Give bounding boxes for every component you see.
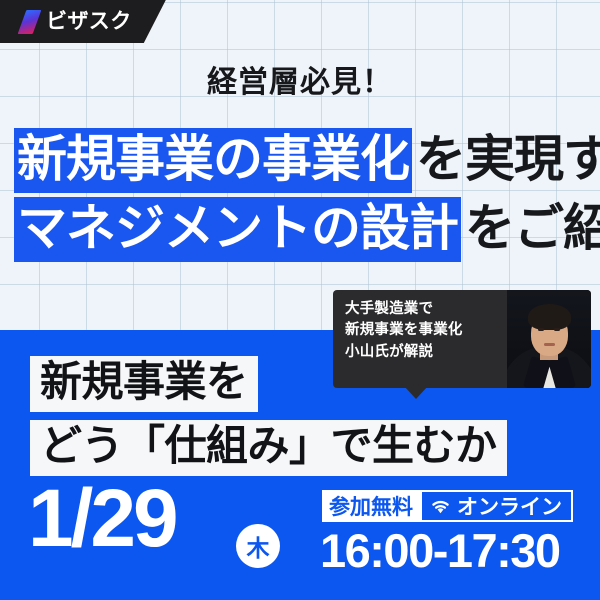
- portrait-hair: [528, 304, 571, 330]
- portrait-mouth: [544, 343, 555, 346]
- speaker-portrait: [507, 290, 591, 388]
- brand-logo-badge[interactable]: ビザスク: [0, 0, 166, 43]
- tag-online: オンライン: [420, 490, 573, 522]
- event-tag-row: 参加無料 オンライン: [322, 490, 573, 522]
- speaker-line-3: 小山氏が解説: [345, 342, 507, 363]
- promo-poster: ビザスク 経営層必見！ 新規事業の事業化 を実現する マネジメントの設計 をご紹…: [0, 0, 600, 600]
- speaker-line-1: 大手製造業で: [345, 299, 507, 320]
- event-day-of-week-badge: 木: [236, 524, 280, 568]
- event-time: 16:00-17:30: [320, 527, 560, 574]
- headline-line-1: 新規事業の事業化 を実現する: [14, 128, 600, 193]
- subheading-band-2: どう「仕組み」で生むか: [30, 420, 507, 476]
- slash-gradient-icon: [18, 10, 42, 34]
- brand-logo-text: ビザスク: [46, 11, 132, 32]
- wifi-icon: [429, 497, 452, 515]
- speaker-callout-bubble: 大手製造業で 新規事業を事業化 小山氏が解説: [333, 290, 591, 388]
- tag-online-label: オンライン: [457, 491, 562, 521]
- speaker-line-2: 新規事業を事業化: [345, 320, 507, 341]
- headline-line1-highlight: 新規事業の事業化: [14, 128, 412, 193]
- headline-line2-plain: をご紹介: [461, 203, 600, 253]
- speaker-bubble-tail: [404, 386, 428, 399]
- headline-line2-highlight: マネジメントの設計: [14, 197, 461, 262]
- speaker-callout-text: 大手製造業で 新規事業を事業化 小山氏が解説: [333, 290, 507, 388]
- headline-line1-plain: を実現する: [412, 134, 600, 184]
- portrait-eye-right: [554, 328, 560, 331]
- headline-kicker: 経営層必見！: [0, 66, 600, 99]
- tag-free-admission: 参加無料: [322, 490, 420, 522]
- portrait-eye-left: [538, 328, 544, 331]
- subheading-band-1: 新規事業を: [30, 356, 258, 412]
- headline-line-2: マネジメントの設計 をご紹介: [14, 197, 600, 262]
- event-date: 1/29: [28, 478, 176, 560]
